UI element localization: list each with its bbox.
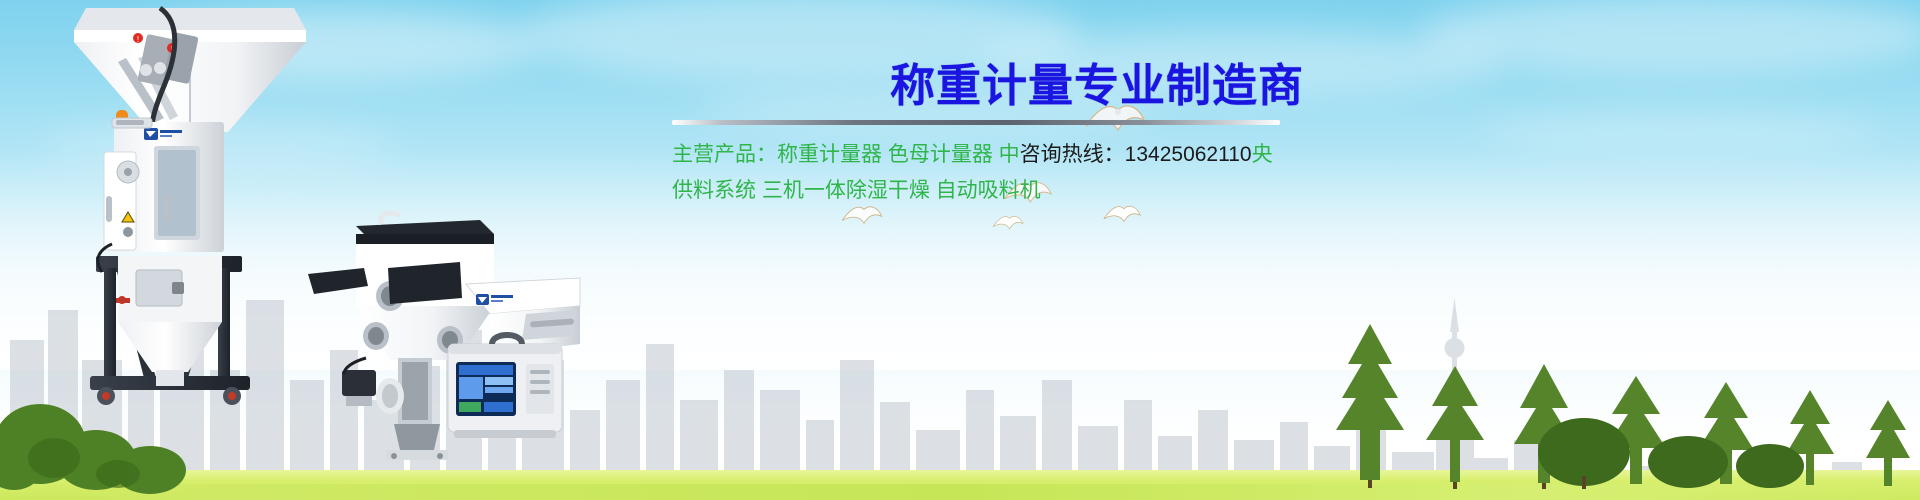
svg-text:!: ! [137,35,139,44]
weighing-mixer-machine: ! ! [60,0,320,420]
hopper-assembly: ! ! [74,8,306,132]
discharge-valve [342,358,376,406]
bird-icon [990,208,1026,234]
mixing-throat [376,358,448,460]
subtitle-segment-4: 料机 [999,179,1041,202]
banner-text-block: 称重计量专业制造商 主营产品：称重计量器 色母计量器 中咨询热线：1342506… [672,60,1312,209]
hero-banner: ! ! [0,0,1920,500]
title-divider [672,120,1280,125]
pine-trees-icon [1300,280,1920,490]
touchscreen-controller [440,330,570,440]
mixer-body [104,110,224,252]
page-title: 称重计量专业制造商 [672,60,1312,112]
hotline-text[interactable]: 咨询热线：13425062110 [1020,143,1252,166]
cloud-shape [1480,110,1880,154]
hopper-lid [356,213,494,244]
weigh-hopper [116,256,222,386]
carry-handle-icon [492,335,522,344]
banner-subtitle: 主营产品：称重计量器 色母计量器 中咨询热线：13425062110央供料系统 … [672,137,1280,209]
subtitle-segment-1: 主营产品：称重计量器 色母计量器 中 [672,143,1020,166]
